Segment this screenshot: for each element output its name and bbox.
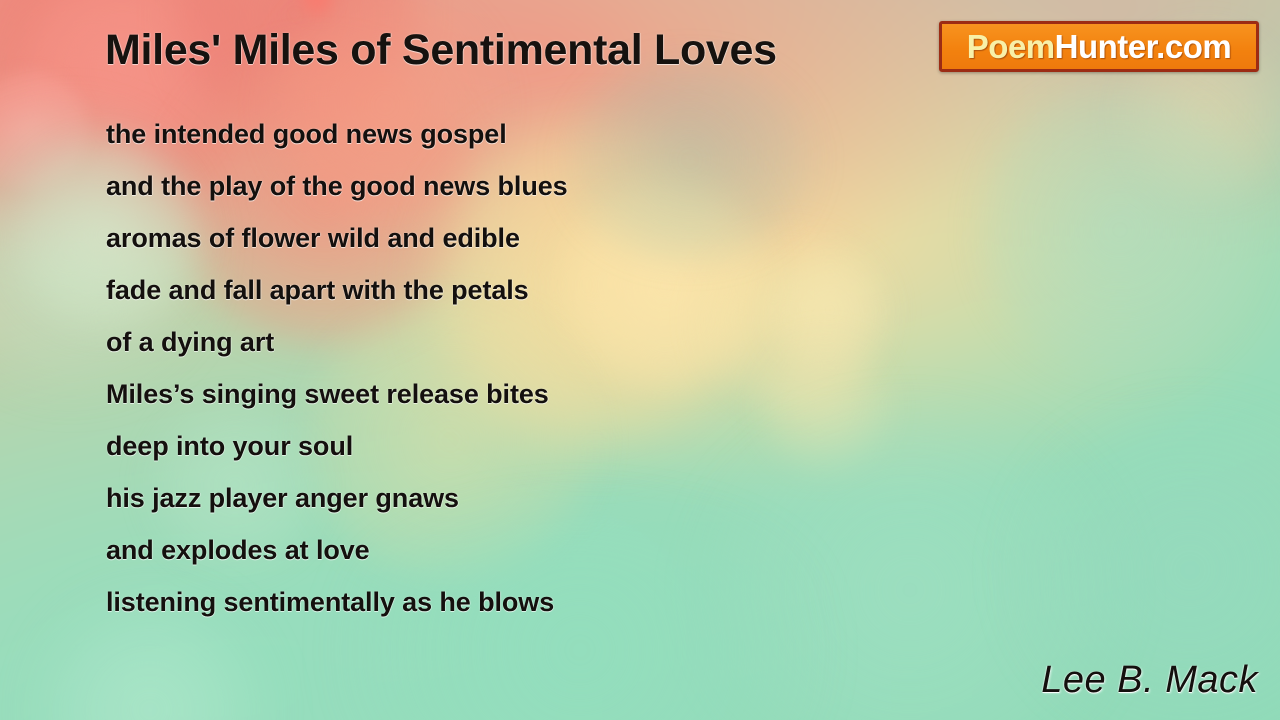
- logo-text-hunter: Hunter.com: [1055, 28, 1232, 65]
- poem-line: of a dying art: [106, 316, 866, 368]
- poem-line: and explodes at love: [106, 524, 866, 576]
- card-content: Miles' Miles of Sentimental Loves PoemHu…: [0, 0, 1280, 720]
- page-title: Miles' Miles of Sentimental Loves: [105, 26, 777, 75]
- logo-text: PoemHunter.com: [967, 30, 1231, 63]
- poem-line: aromas of flower wild and edible: [106, 212, 866, 264]
- logo-text-poem: Poem: [967, 28, 1055, 65]
- poem-line: Miles’s singing sweet release bites: [106, 368, 866, 420]
- poemhunter-logo[interactable]: PoemHunter.com: [939, 21, 1259, 72]
- poem-line: the intended good news gospel: [106, 108, 866, 160]
- poem-line: fade and fall apart with the petals: [106, 264, 866, 316]
- poem-text-block: the intended good news gospel and the pl…: [106, 108, 866, 628]
- poem-image-card: Miles' Miles of Sentimental Loves PoemHu…: [0, 0, 1280, 720]
- poem-line: his jazz player anger gnaws: [106, 472, 866, 524]
- poem-line: and the play of the good news blues: [106, 160, 866, 212]
- author-name: Lee B. Mack: [1041, 659, 1258, 702]
- poem-line: listening sentimentally as he blows: [106, 576, 866, 628]
- poem-line: deep into your soul: [106, 420, 866, 472]
